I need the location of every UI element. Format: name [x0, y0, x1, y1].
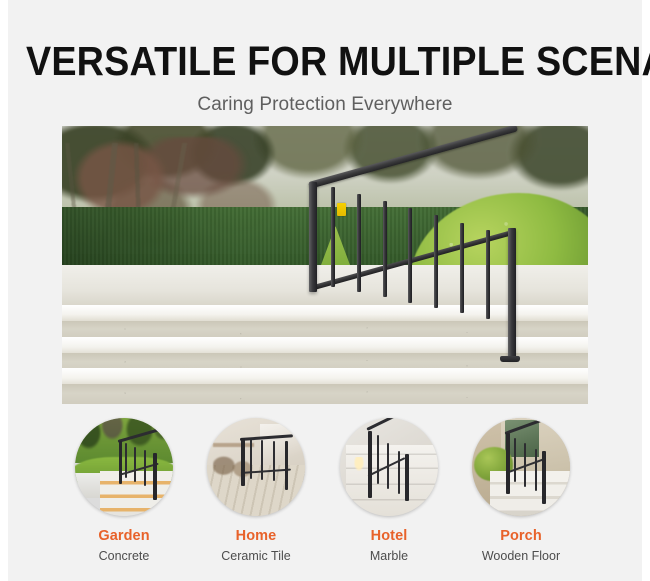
page-title: VERSATILE FOR MULTIPLE SCENARIOS [26, 38, 624, 84]
handrail-baluster [331, 187, 335, 287]
headline-block: VERSATILE FOR MULTIPLE SCENARIOS Caring … [0, 38, 650, 116]
home-handrail [240, 438, 293, 499]
marketing-banner: VERSATILE FOR MULTIPLE SCENARIOS Caring … [0, 0, 650, 581]
home-stairs-thumbnail[interactable] [207, 418, 305, 516]
scenario-card-home[interactable]: Home Ceramic Tile [190, 418, 322, 564]
hotel-scene [340, 418, 438, 516]
mini-baluster [261, 440, 263, 480]
scenario-card-garden[interactable]: Garden Concrete [58, 418, 190, 564]
handrail-lower-post [508, 228, 516, 360]
mini-post [285, 441, 289, 490]
scenario-surface: Wooden Floor [455, 545, 587, 564]
handrail-baluster [460, 223, 464, 314]
handrail-baluster [357, 194, 361, 292]
scenario-card-porch[interactable]: Porch Wooden Floor [455, 418, 587, 564]
mini-baluster [398, 451, 400, 494]
mini-bottom-rail [241, 468, 291, 473]
scenario-surface: Ceramic Tile [190, 545, 322, 564]
porch-steps-thumbnail[interactable] [472, 418, 570, 516]
handrail-upper-post [309, 182, 317, 292]
mini-baluster [250, 439, 252, 479]
mini-post [153, 453, 157, 500]
mini-baluster [524, 443, 526, 487]
handrail-baluster [486, 230, 490, 319]
home-scene [207, 418, 305, 516]
mini-post [368, 431, 372, 498]
hotel-handrail [367, 428, 410, 504]
mini-baluster [144, 450, 146, 485]
brand-tag-icon [337, 203, 346, 216]
handrail-base-plate [500, 356, 520, 362]
mini-post [542, 451, 546, 505]
mini-baluster [125, 443, 127, 478]
scenario-card-list: Garden Concrete [0, 418, 650, 568]
porch-scene [472, 418, 570, 516]
scenario-title: Porch [455, 516, 587, 545]
hotel-stairs-thumbnail[interactable] [340, 418, 438, 516]
handrail-baluster [408, 208, 412, 302]
garden-steps-thumbnail[interactable] [75, 418, 173, 516]
scenario-title: Home [190, 516, 322, 545]
mini-baluster [535, 449, 537, 491]
hero-image [62, 126, 588, 404]
hero-step-3 [62, 368, 588, 404]
garden-scene [75, 418, 173, 516]
scenario-surface: Marble [323, 545, 455, 564]
hero-handrail [309, 182, 525, 360]
mini-baluster [377, 435, 379, 484]
hero-scene [62, 126, 588, 404]
mini-post [241, 438, 245, 487]
page-subtitle: Caring Protection Everywhere [0, 84, 650, 116]
handrail-baluster [434, 215, 438, 308]
porch-handrail [505, 432, 548, 505]
mini-baluster [134, 447, 136, 482]
hotel-lamp-glow [354, 457, 364, 471]
mini-baluster [387, 443, 389, 489]
mini-baluster [514, 438, 516, 483]
mini-baluster [273, 441, 275, 481]
mini-post [506, 433, 510, 494]
scenario-card-hotel[interactable]: Hotel Marble [323, 418, 455, 564]
mini-post [119, 441, 123, 485]
scenario-title: Hotel [323, 516, 455, 545]
scenario-surface: Concrete [58, 545, 190, 564]
handrail-baluster [383, 201, 387, 297]
mini-post [405, 454, 409, 501]
garden-handrail [118, 440, 161, 501]
scenario-title: Garden [58, 516, 190, 545]
